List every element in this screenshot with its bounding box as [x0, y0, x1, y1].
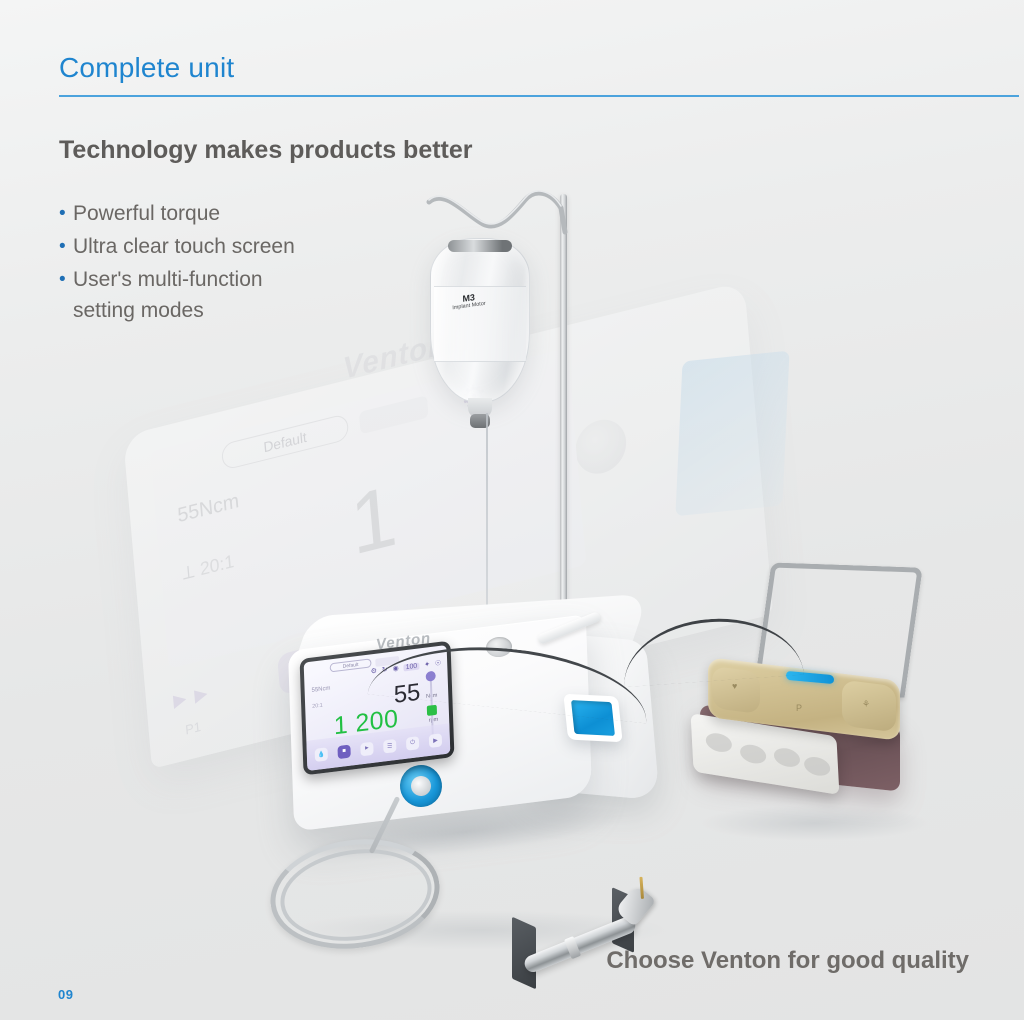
ghost-blue-panel — [675, 351, 789, 517]
handpiece-icon: ⟂ — [182, 561, 195, 584]
foot-pedal[interactable]: ♥ P ⚘ — [690, 565, 930, 835]
water-drop-icon[interactable]: 💧 — [315, 747, 328, 762]
menu-icon[interactable]: ☰ — [383, 738, 396, 753]
saline-bottle — [430, 238, 530, 403]
ratio-label: 20:1 — [312, 703, 323, 710]
bottle-cap — [448, 240, 512, 252]
product-photo: Venton Default ⚙ 55Ncm ⟂20:1 1 ►► P1 ► P… — [0, 110, 1024, 970]
speed-unit: rpm — [429, 717, 439, 724]
title-divider — [59, 95, 1019, 97]
gear-icon[interactable]: ⚙ — [370, 667, 377, 676]
pedal-right-mark: ⚘ — [862, 699, 870, 710]
pedal-left-mark: ♥ — [732, 681, 737, 691]
surgical-handpiece — [514, 886, 666, 994]
ghost-tab — [359, 395, 429, 434]
ghost-ratio-value: 20:1 — [199, 551, 235, 580]
preset-button[interactable]: Default — [330, 658, 372, 672]
play-icon[interactable]: ► — [360, 741, 373, 756]
ghost-program-p1: ►► P1 — [159, 670, 225, 756]
iv-stand-hook — [425, 190, 573, 240]
power-icon[interactable]: ⏻ — [406, 736, 419, 751]
page-number: 09 — [58, 987, 73, 1002]
ghost-torque-label: 55Ncm — [177, 490, 241, 529]
ghost-ratio-label: ⟂20:1 — [182, 551, 235, 585]
memory-icon[interactable]: ■ — [337, 744, 350, 759]
torque-label: 55Ncm — [312, 686, 331, 694]
page-title: Complete unit — [59, 52, 234, 84]
forward-icon[interactable]: ▶ — [429, 733, 442, 748]
pedal-center-mark: P — [796, 703, 802, 713]
ghost-program-value: 1 — [347, 472, 400, 568]
handpiece-cable — [270, 800, 520, 950]
marketing-tagline: Choose Venton for good quality — [606, 947, 969, 975]
drill-bur-icon — [639, 877, 644, 899]
